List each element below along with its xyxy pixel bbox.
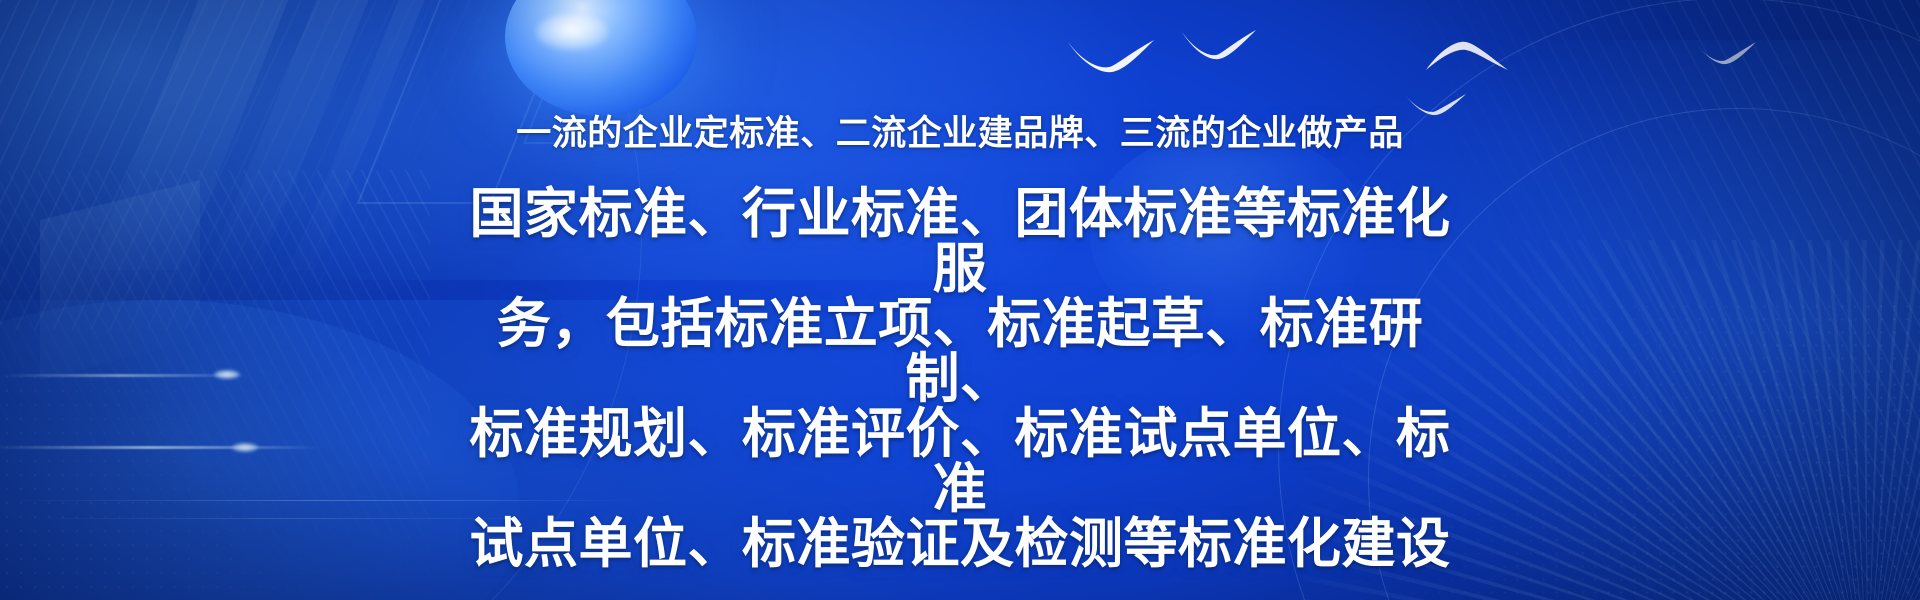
headline-line: 务，包括标准立项、标准起草、标准研制、 (445, 297, 1475, 407)
headline-line: 试点单位、标准验证及检测等标准化建设 (445, 517, 1475, 572)
banner-tagline: 一流的企业定标准、二流企业建品牌、三流的企业做产品 (516, 116, 1404, 151)
headline-line: 国家标准、行业标准、团体标准等标准化服 (445, 187, 1475, 297)
promo-banner: 一流的企业定标准、二流企业建品牌、三流的企业做产品 国家标准、行业标准、团体标准… (0, 0, 1920, 600)
banner-headline: 国家标准、行业标准、团体标准等标准化服 务，包括标准立项、标准起草、标准研制、 … (445, 187, 1475, 572)
banner-content: 一流的企业定标准、二流企业建品牌、三流的企业做产品 国家标准、行业标准、团体标准… (0, 0, 1920, 600)
headline-line: 标准规划、标准评价、标准试点单位、标准 (445, 407, 1475, 517)
